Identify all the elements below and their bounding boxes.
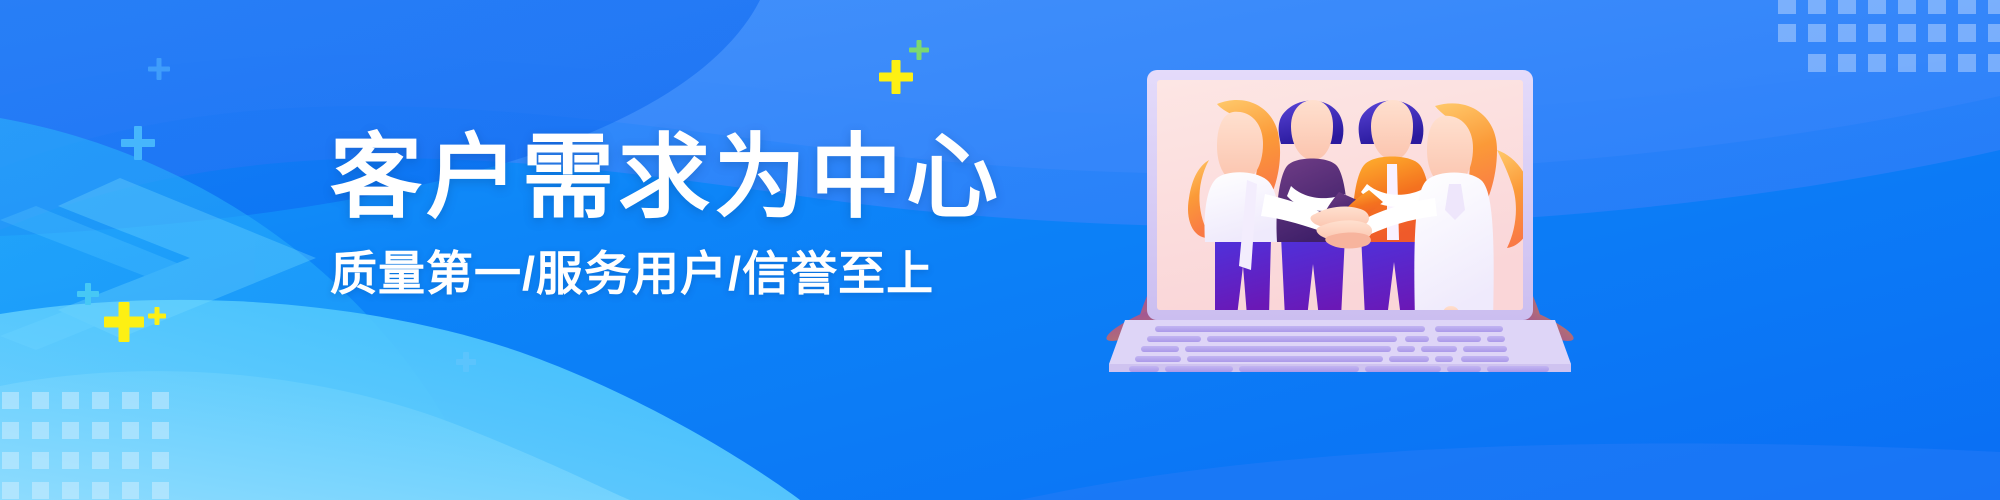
laptop-team-illustration	[1105, 28, 1575, 373]
headline-block: 客户需求为中心 质量第一/服务用户/信誉至上	[330, 132, 1010, 297]
plus-bottom-left-big-icon	[104, 302, 144, 342]
page-title: 客户需求为中心	[330, 132, 1010, 224]
promo-banner: 客户需求为中心 质量第一/服务用户/信誉至上	[0, 0, 2000, 500]
plus-left-mid-icon	[121, 126, 155, 160]
plus-laptop-yellow-icon	[879, 60, 913, 94]
page-subtitle: 质量第一/服务用户/信誉至上	[330, 250, 1010, 297]
plus-top-left-small-icon	[148, 58, 170, 80]
plus-laptop-small-icon	[909, 40, 929, 60]
plus-bottom-left-tiny-icon	[148, 307, 166, 325]
plus-bottom-left-cyan-icon	[77, 283, 99, 305]
plus-bottom-mid-icon	[456, 352, 476, 372]
